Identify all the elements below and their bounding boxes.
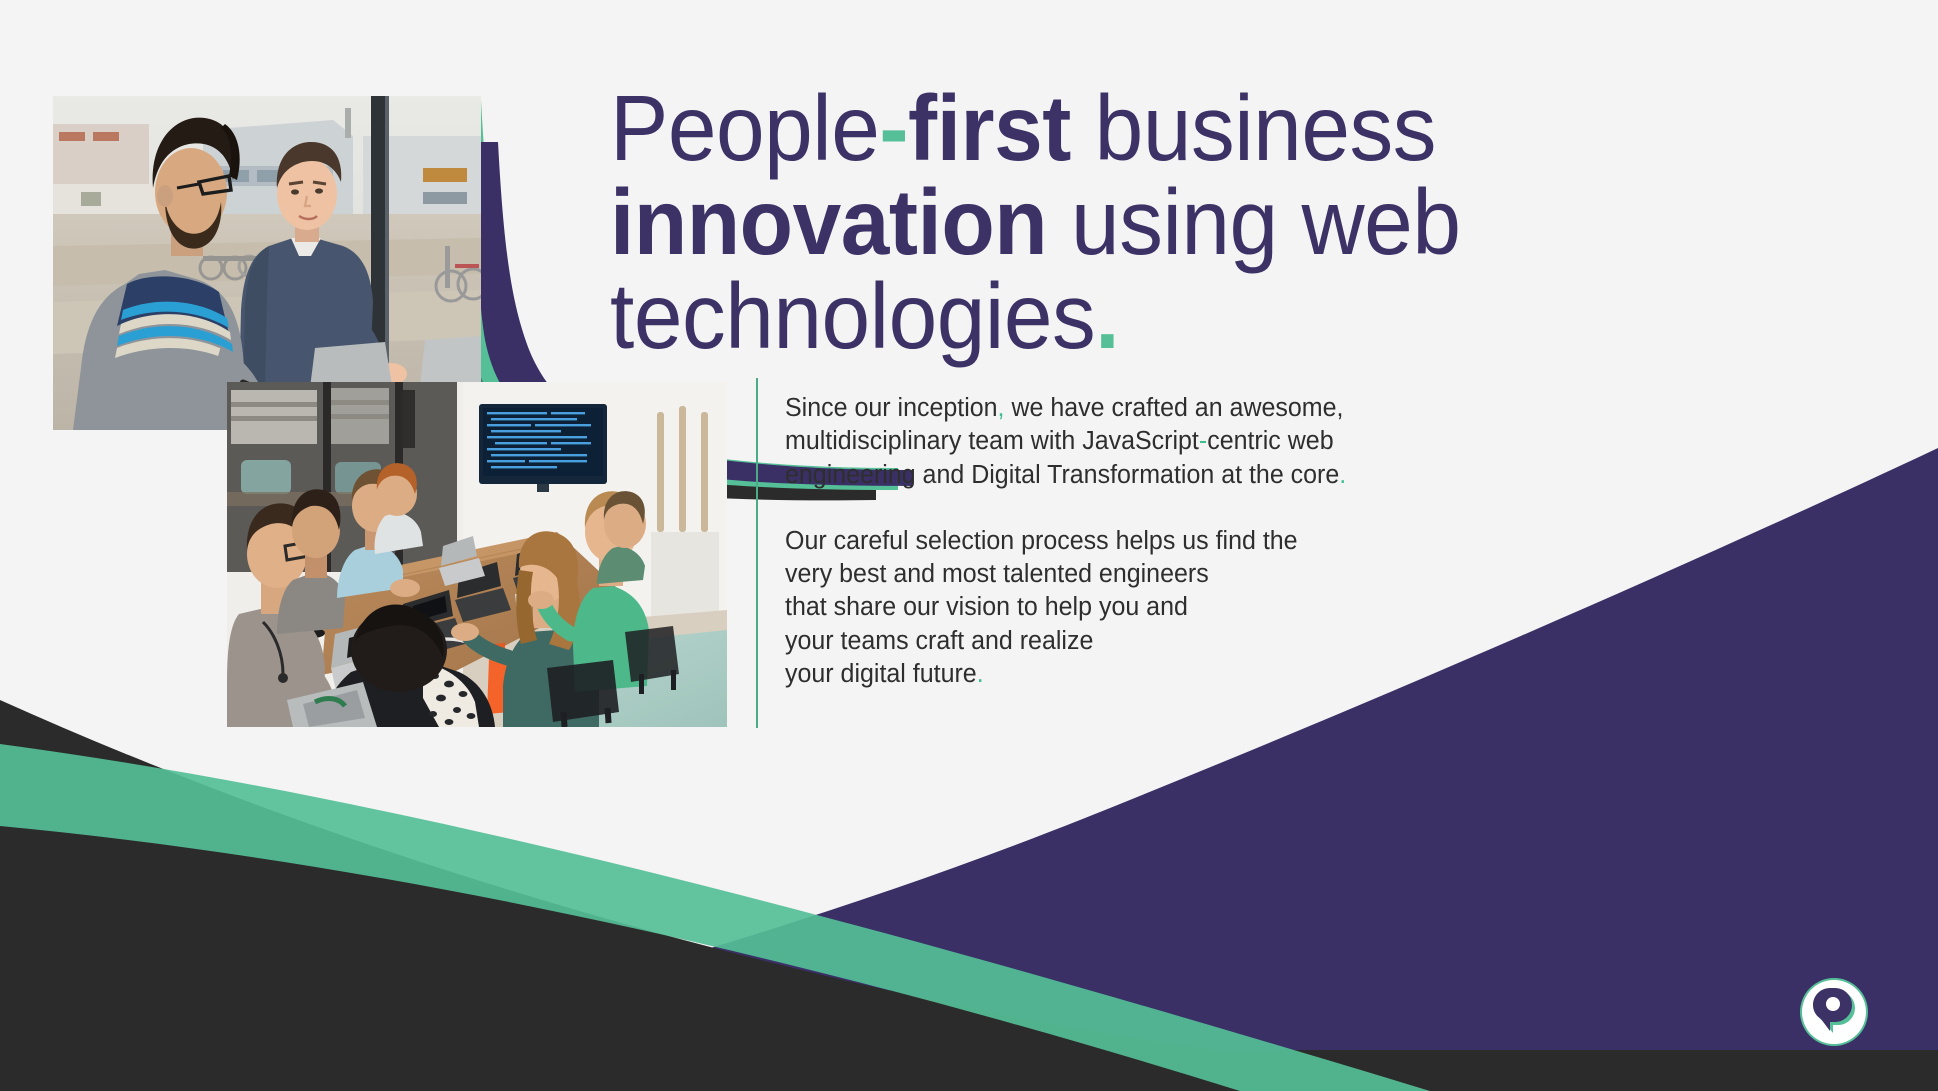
p2-period-accent: . [977,660,984,688]
headline-line-3: technologies. [610,270,1823,363]
company-pin-logo[interactable] [1797,975,1871,1049]
headline-text-business: business [1071,76,1436,180]
headline-hyphen-accent: - [879,76,908,180]
p2-line2: very best and most talented engineers [785,560,1209,588]
image-team-working-open-office [227,382,727,727]
body-paragraph-2: Our careful selection process helps us f… [785,525,1393,691]
p1-period-accent: . [1339,461,1346,489]
p1-line1-a: Since our inception [785,394,998,422]
p2-line3: that share our vision to help you and [785,593,1188,621]
headline-line-1: People-first business [610,82,1823,175]
slide-canvas: People-first business innovation using w… [0,0,1938,1091]
p1-line2-a: multidisciplinary team with JavaScript [785,427,1199,455]
body-copy: Since our inception, we have crafted an … [785,392,1393,691]
vertical-green-divider [756,378,758,728]
page-headline: People-first business innovation using w… [610,82,1823,364]
logo-pin-counter [1826,997,1840,1011]
headline-period-accent: . [1095,264,1119,368]
headline-text-technologies: technologies [610,264,1095,368]
headline-text-first: first [908,76,1071,180]
paragraph-spacer [785,492,1393,525]
p1-comma-accent: , [998,394,1005,422]
headline-line-2: innovation using web [610,176,1823,269]
image-two-colleagues-talking [53,96,481,430]
p2-line5-a: your digital future [785,660,977,688]
p1-hyphen-accent: - [1199,427,1207,455]
headline-text-using-web: using web [1047,170,1460,274]
headline-text-people: People [610,76,879,180]
p1-line1-b: we have crafted an awesome, [1005,394,1344,422]
p2-line4: your teams craft and realize [785,627,1093,655]
p1-line2-b: centric web [1207,427,1333,455]
headline-text-innovation: innovation [610,170,1047,274]
p1-line3-a: engineering and Digital Transformation a… [785,461,1339,489]
body-paragraph-1: Since our inception, we have crafted an … [785,392,1393,492]
p2-line1: Our careful selection process helps us f… [785,527,1298,555]
